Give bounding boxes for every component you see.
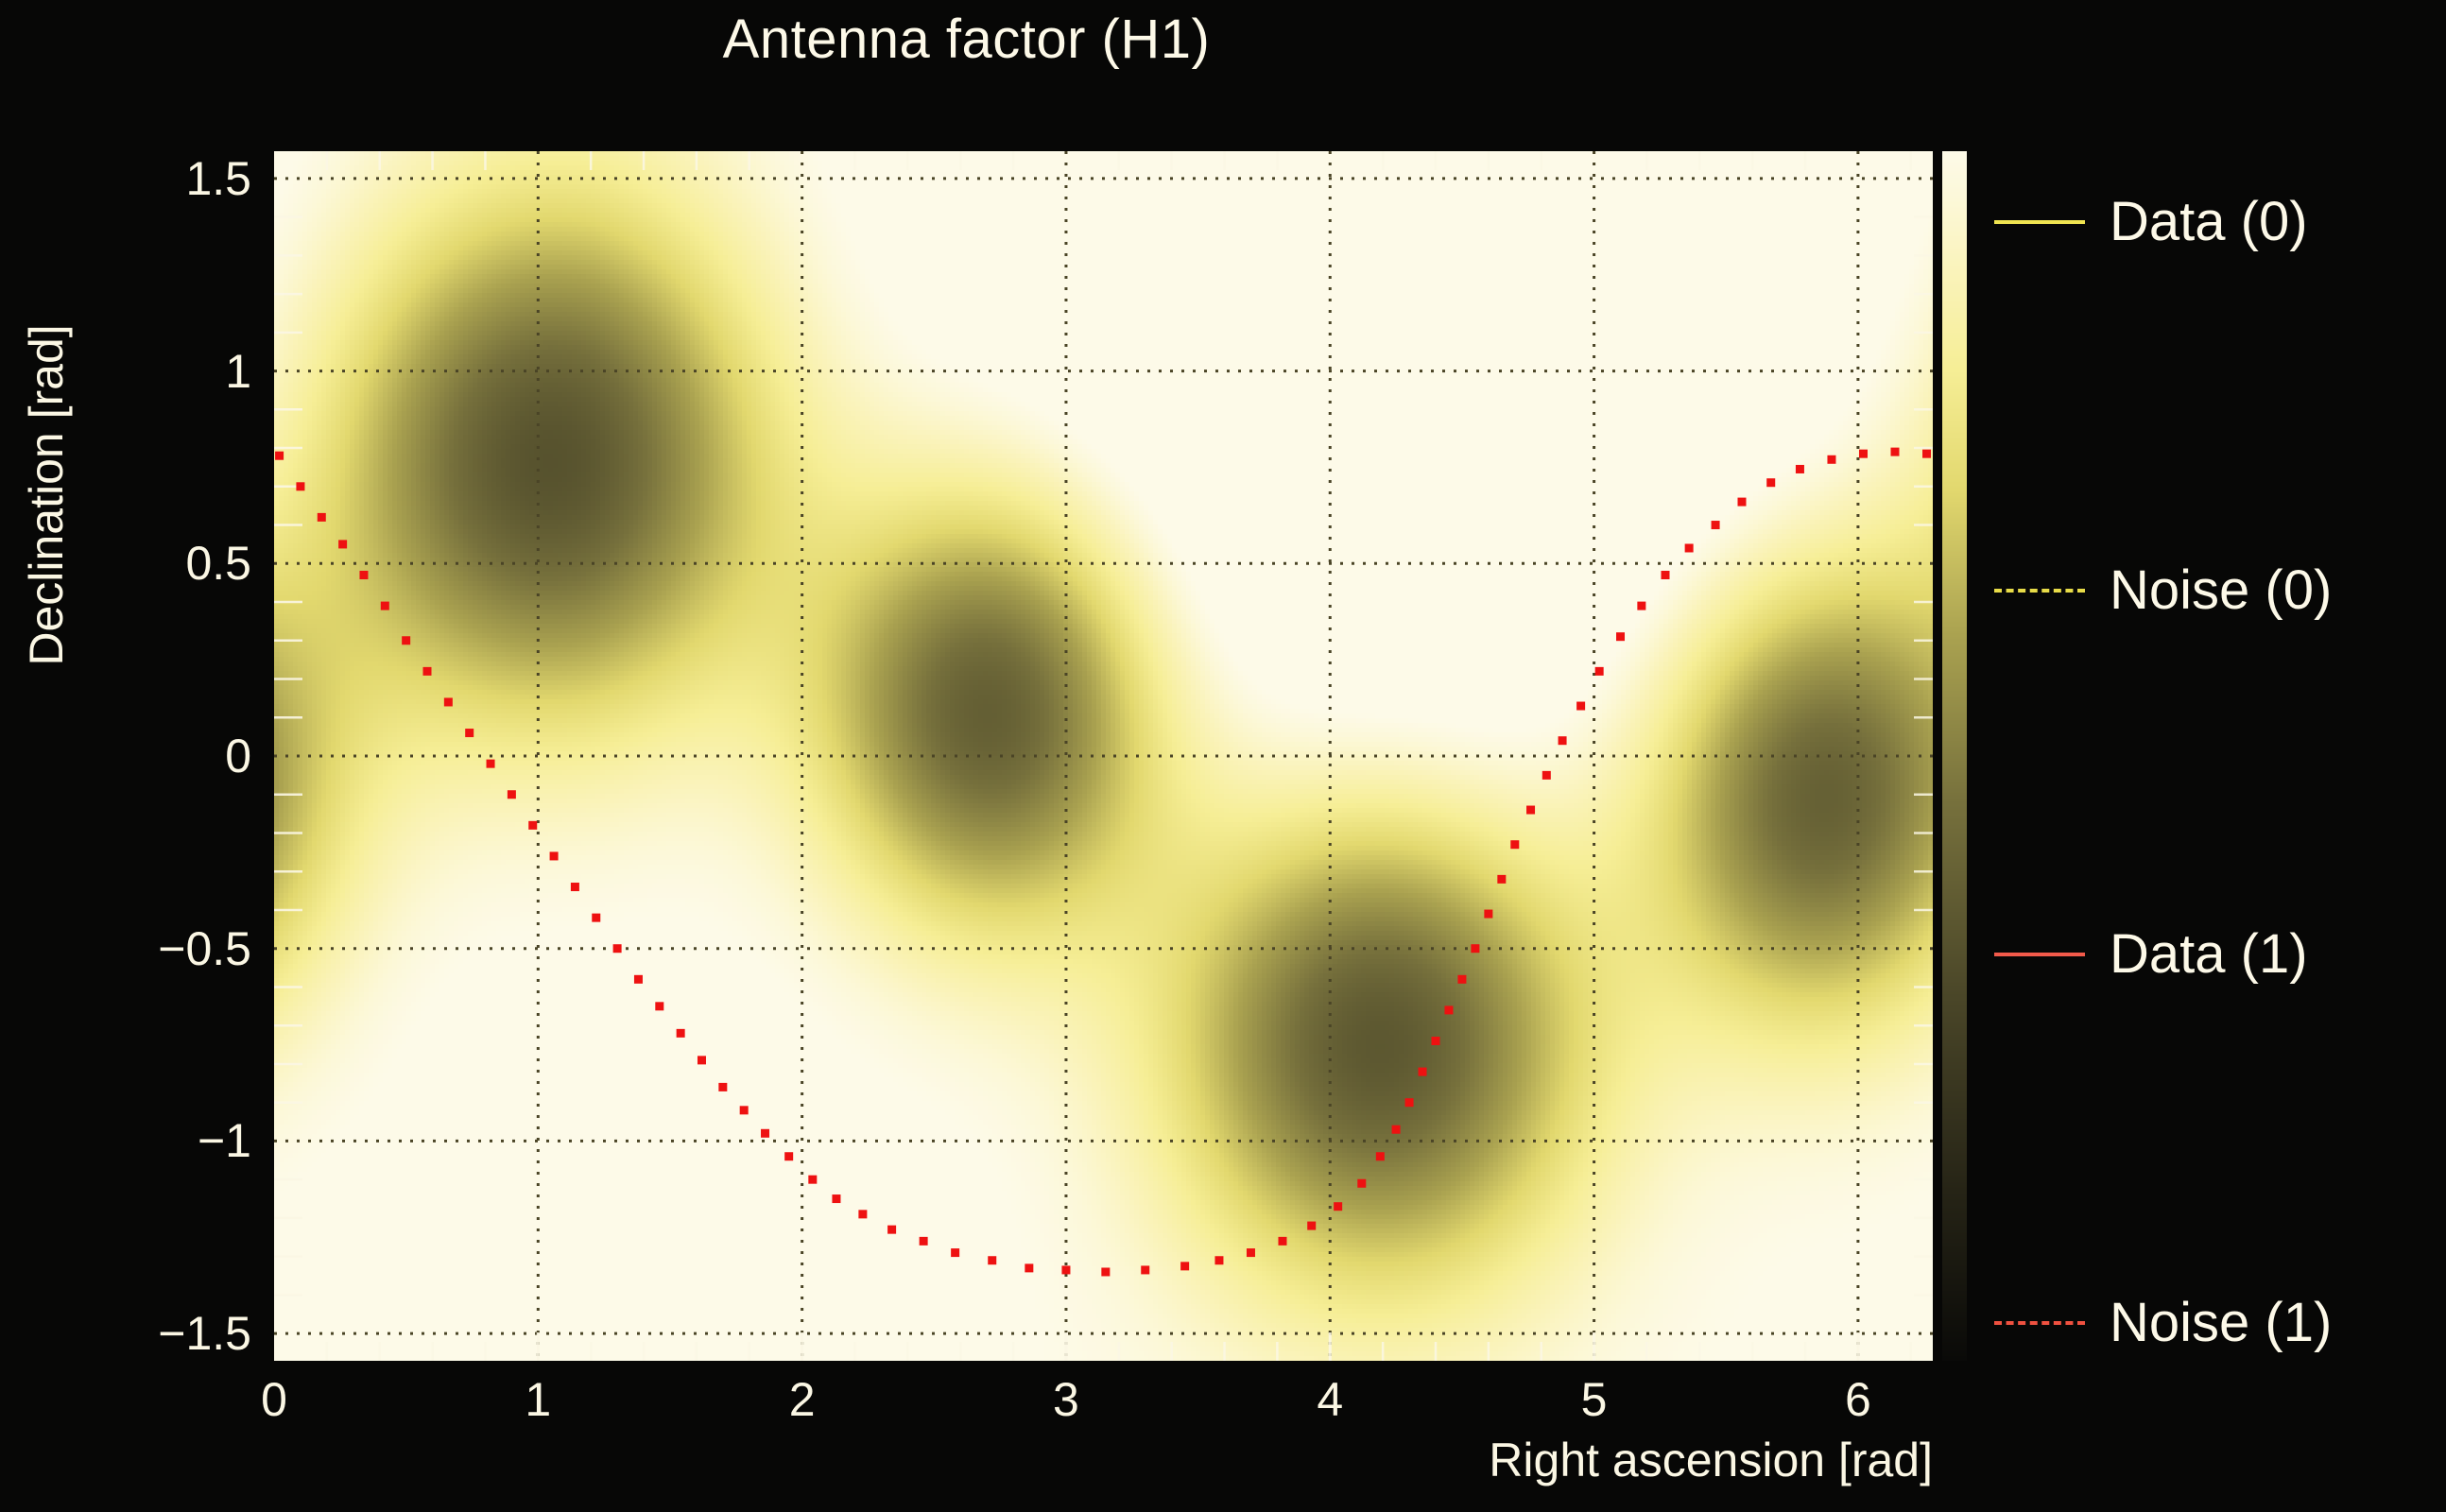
legend-line-swatch bbox=[1994, 589, 2085, 593]
y-axis-tick-labels: 1.510.50−0.5−1−1.5 bbox=[66, 151, 251, 1361]
y-tick-label: 1.5 bbox=[185, 151, 251, 206]
legend: Data (0)Noise (0)Data (1)Noise (1) bbox=[1994, 151, 2429, 1361]
y-tick-label: −0.5 bbox=[158, 921, 251, 976]
legend-label: Noise (1) bbox=[2110, 1296, 2332, 1350]
legend-label: Data (0) bbox=[2110, 195, 2308, 249]
legend-item[interactable]: Noise (0) bbox=[1994, 560, 2332, 621]
x-axis-title: Right ascension [rad] bbox=[988, 1433, 1933, 1487]
legend-item[interactable]: Data (0) bbox=[1994, 192, 2308, 252]
x-tick-label: 2 bbox=[789, 1372, 816, 1427]
x-tick-label: 5 bbox=[1581, 1372, 1608, 1427]
colorbar-gradient bbox=[1942, 151, 1967, 1361]
legend-line-swatch bbox=[1994, 1321, 2085, 1325]
x-tick-label: 6 bbox=[1845, 1372, 1871, 1427]
y-axis-title: Declination [rad] bbox=[19, 202, 74, 788]
colorbar bbox=[1942, 151, 1967, 1361]
y-tick-label: 0.5 bbox=[185, 536, 251, 591]
x-tick-label: 0 bbox=[261, 1372, 287, 1427]
legend-item[interactable]: Noise (1) bbox=[1994, 1293, 2332, 1353]
plot-frame bbox=[274, 151, 1933, 1361]
legend-label: Noise (0) bbox=[2110, 563, 2332, 618]
x-tick-label: 1 bbox=[525, 1372, 551, 1427]
x-axis-tick-labels: 0123456 bbox=[274, 1372, 1933, 1429]
y-tick-label: 0 bbox=[225, 729, 251, 783]
y-tick-label: −1.5 bbox=[158, 1306, 251, 1361]
y-tick-label: 1 bbox=[225, 344, 251, 399]
legend-line-swatch bbox=[1994, 220, 2085, 224]
legend-line-swatch bbox=[1994, 953, 2085, 956]
x-tick-label: 3 bbox=[1053, 1372, 1079, 1427]
page-title: Antenna factor (H1) bbox=[0, 8, 1933, 71]
plot-canvas: Antenna factor (H1) 1.510.50−0.5−1−1.5 0… bbox=[0, 0, 2446, 1512]
legend-label: Data (1) bbox=[2110, 927, 2308, 982]
y-tick-label: −1 bbox=[198, 1113, 251, 1168]
legend-item[interactable]: Data (1) bbox=[1994, 924, 2308, 985]
heatmap-image bbox=[274, 151, 1933, 1361]
x-tick-label: 4 bbox=[1317, 1372, 1343, 1427]
